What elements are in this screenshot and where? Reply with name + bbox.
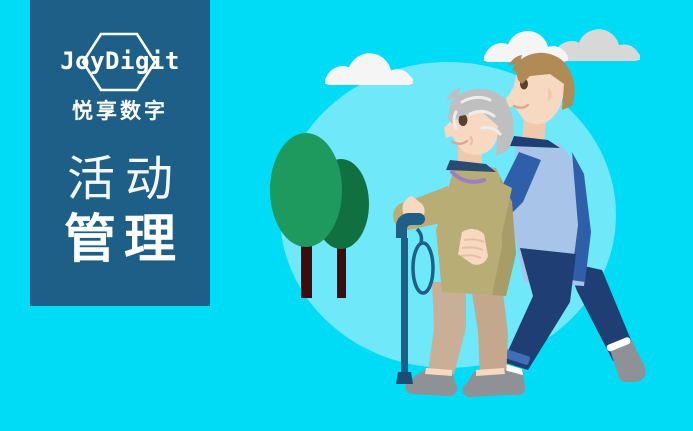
brand-logo: JoyDigit (40, 32, 200, 94)
brand-chinese-name: 悦享数字 (72, 98, 168, 126)
title-panel: JoyDigit 悦享数字 活动 管理 (30, 0, 210, 306)
page-title-line1: 活动 (57, 152, 183, 208)
page-title-line2: 管理 (56, 210, 184, 270)
poster-canvas: JoyDigit 悦享数字 活动 管理 (0, 0, 693, 431)
brand-wordmark: JoyDigit (40, 46, 200, 76)
